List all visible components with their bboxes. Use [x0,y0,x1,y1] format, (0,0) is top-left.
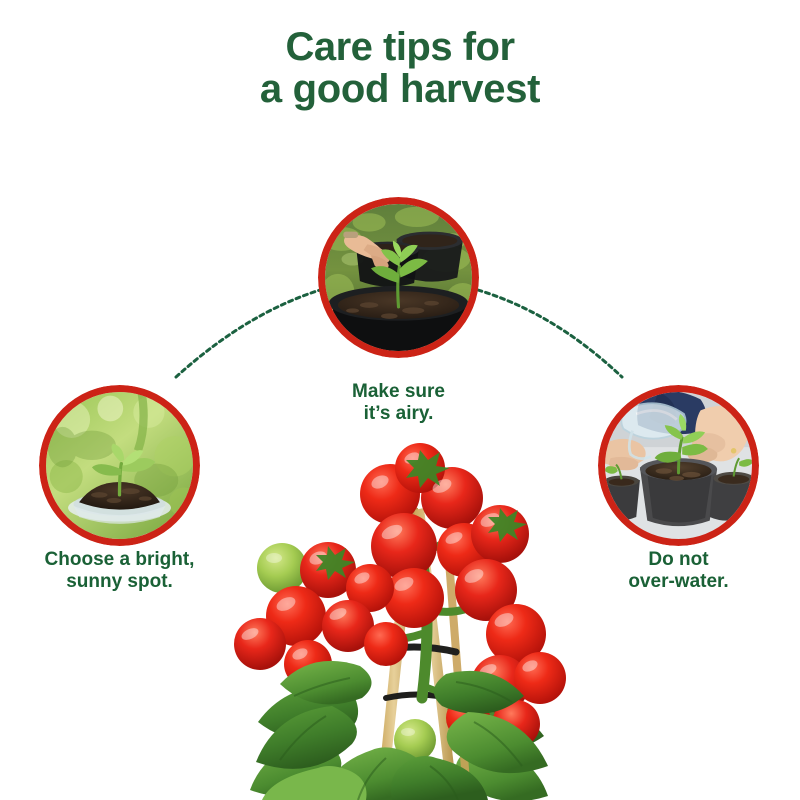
page-title: Care tips for a good harvest [0,26,800,111]
title-line-2: a good harvest [0,68,800,110]
hero-image-alt: Cherry tomato plant heavy with ripe red … [0,0,1,1]
caption-sunny-line-2: sunny spot. [66,571,173,592]
caption-airy-line-2: it’s airy. [364,403,434,424]
caption-water-line-1: Do not [648,549,708,570]
caption-airy-line-1: Make sure [352,381,445,402]
tip-caption-sunny: Choose a bright, sunny spot. [19,549,220,594]
tip-photo-airy [318,197,479,358]
photo-alt-sunny: Seedling sprouting from dark soil in a c… [0,0,1,1]
photo-ring-sunny [39,385,200,546]
tip-caption-airy: Make sure it’s airy. [318,381,479,426]
photo-alt-airy: Hand planting a young seedling into dark… [0,0,1,1]
photo-ring-airy [318,197,479,358]
caption-sunny-line-1: Choose a bright, [45,549,195,570]
connector-airy-to-water [478,290,622,377]
tip-photo-water [598,385,759,546]
connector-sunny-to-airy [176,290,320,377]
photo-alt-water: Hands pouring water from a clear contain… [0,0,1,1]
title-line-1: Care tips for [0,26,800,68]
tip-caption-water: Do not over-water. [598,549,759,594]
infographic-poster: Care tips for a good harvest [0,0,800,800]
tomato-plant-image [200,438,600,800]
tip-photo-sunny [39,385,200,546]
photo-ring-water [598,385,759,546]
caption-water-line-2: over-water. [628,571,728,592]
